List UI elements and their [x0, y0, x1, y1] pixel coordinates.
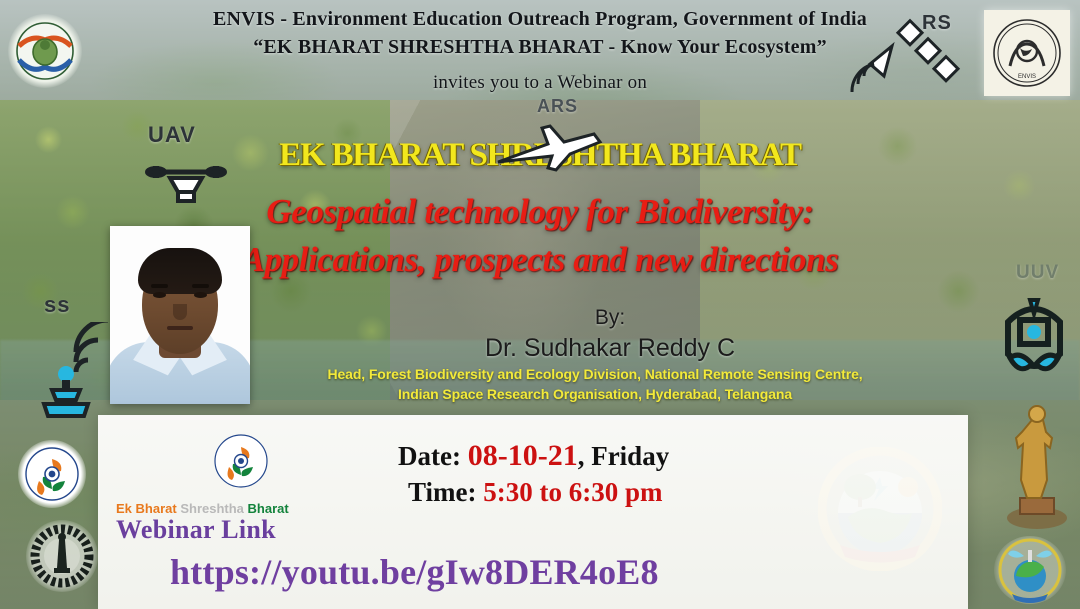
satellite-icon: [848, 18, 968, 114]
speaker-portrait-photo: [110, 226, 250, 404]
ebsb-word-bharat: Bharat: [248, 501, 289, 516]
portrait-nose: [173, 304, 187, 320]
date-day: , Friday: [578, 441, 670, 471]
webinar-link-label: Webinar Link: [116, 515, 276, 545]
ek-bharat-shreshtha-bharat-emblem-icon: [18, 440, 86, 508]
ebsb-word-shreshtha: Shreshtha: [180, 501, 244, 516]
speaker-by-label: By:: [230, 306, 990, 330]
details-panel: Ek Bharat Shreshtha Bharat Date: 08-10-2…: [98, 415, 968, 609]
date-value: 08-10-21: [468, 439, 578, 472]
ground-station-icon: [28, 322, 124, 418]
speaker-name: Dr. Sudhakar Reddy C: [230, 334, 990, 363]
time-label: Time:: [408, 477, 477, 507]
statue-of-unity-graphic: [1004, 400, 1070, 532]
ebsb-word-ek-bharat: Ek Bharat: [116, 501, 177, 516]
uav-label: UAV: [148, 122, 196, 148]
nrsc-isro-emblem-icon: [994, 536, 1066, 604]
portrait-mouth: [167, 326, 193, 330]
portrait-eyebrow-right: [192, 284, 209, 288]
moefcc-emblem-icon: [8, 14, 82, 88]
time-row: Time: 5:30 to 6:30 pm: [408, 477, 662, 508]
envis-seal-icon: ENVIS: [984, 10, 1070, 96]
date-label: Date:: [398, 441, 461, 471]
speaker-affiliation-line2: Indian Space Research Organisation, Hyde…: [180, 386, 1010, 402]
institute-emblem-icon: [26, 520, 98, 592]
speaker-affiliation-line1: Head, Forest Biodiversity and Ecology Di…: [180, 366, 1010, 382]
time-value: 5:30 to 6:30 pm: [483, 477, 662, 507]
ss-label: ss: [44, 292, 70, 318]
panel-ebsb-logo-icon: [213, 433, 269, 489]
aircraft-icon: [490, 118, 610, 178]
svg-text:ENVIS: ENVIS: [1018, 74, 1036, 80]
date-row: Date: 08-10-21, Friday: [398, 439, 669, 473]
webinar-link-url[interactable]: https://youtu.be/gIw8DER4oE8: [170, 551, 659, 593]
ars-label: ARS: [537, 96, 578, 117]
portrait-eyebrow-left: [151, 284, 168, 288]
uuv-label: UUV: [1016, 262, 1059, 284]
webinar-poster: ENVIS - Environment Education Outreach P…: [0, 0, 1080, 609]
portrait-eye-left: [153, 292, 166, 298]
uuv-sensor-icon: [996, 292, 1072, 400]
portrait-eye-right: [194, 292, 207, 298]
panel-ebsb-wordmark: Ek Bharat Shreshtha Bharat: [116, 501, 289, 516]
drone-icon: [140, 158, 232, 206]
